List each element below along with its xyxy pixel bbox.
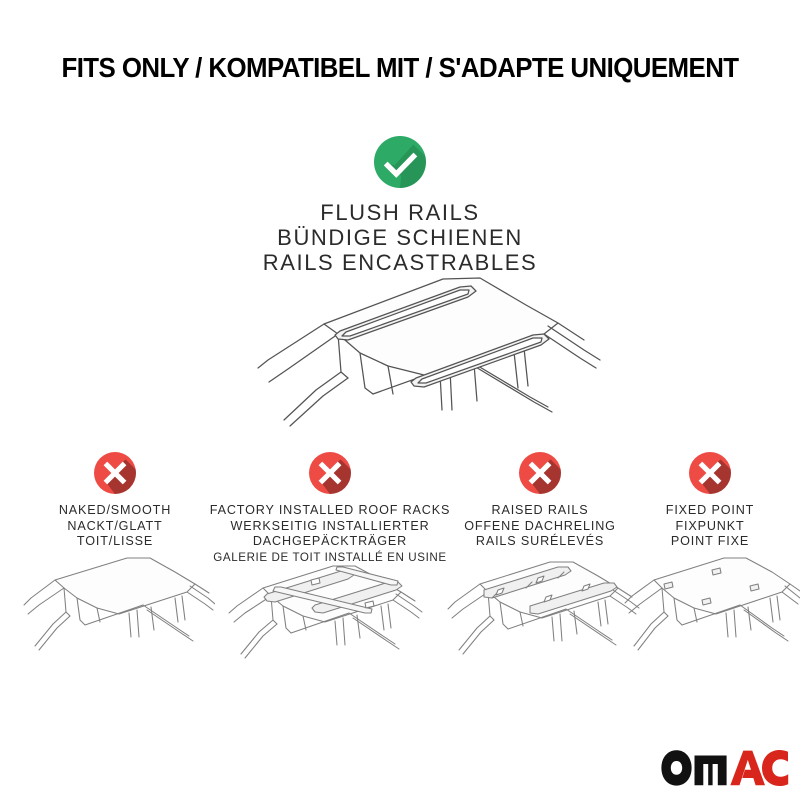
option-label-en: FIXED POINT (620, 503, 800, 519)
option-labels-fixed: FIXED POINT FIXPUNKT POINT FIXE (620, 503, 800, 550)
header: FITS ONLY / KOMPATIBEL MIT / S'ADAPTE UN… (0, 52, 800, 84)
page-title: FITS ONLY / KOMPATIBEL MIT / S'ADAPTE UN… (24, 52, 776, 84)
car-roof-naked-illustration (15, 550, 215, 670)
cross-circle-icon-wrap-fixed (689, 452, 731, 494)
hero-labels: FLUSH RAILS BÜNDIGE SCHIENEN RAILS ENCAS… (0, 200, 800, 275)
roof-line-art (205, 550, 455, 670)
option-label-en: FACTORY INSTALLED ROOF RACKS (205, 503, 455, 519)
option-label-de-2: DACHGEPÄCKTRÄGER (205, 534, 455, 550)
car-roof-fixed-point-illustration (620, 544, 800, 664)
fitment-infographic: FITS ONLY / KOMPATIBEL MIT / S'ADAPTE UN… (0, 0, 800, 800)
roof-line-art (440, 550, 640, 670)
option-label-en: NAKED/SMOOTH (15, 503, 215, 519)
cross-circle-icon (689, 452, 731, 494)
omac-logo-mark (659, 748, 791, 788)
cross-circle-icon (519, 452, 561, 494)
option-labels-raised: RAISED RAILS OFFENE DACHRELING RAILS SUR… (440, 503, 640, 550)
option-fixed-point: FIXED POINT FIXPUNKT POINT FIXE (620, 452, 800, 550)
option-label-fr: RAILS SURÉLEVÉS (440, 534, 640, 550)
incompatible-options: NAKED/SMOOTH NACKT/GLATT TOIT/LISSE (0, 452, 800, 702)
cross-circle-icon (309, 452, 351, 494)
check-circle-icon (374, 136, 426, 188)
option-factory-roof-racks: FACTORY INSTALLED ROOF RACKS WERKSEITIG … (205, 452, 455, 565)
option-label-de: OFFENE DACHRELING (440, 519, 640, 535)
car-roof-flush-rails-illustration (228, 268, 608, 438)
car-roof-raised-rails-illustration (440, 550, 640, 670)
option-raised-rails: RAISED RAILS OFFENE DACHRELING RAILS SUR… (440, 452, 640, 550)
roof-line-art (15, 550, 215, 670)
roof-line-art (228, 268, 608, 438)
cross-circle-icon-wrap-factory (309, 452, 351, 494)
option-label-de: NACKT/GLATT (15, 519, 215, 535)
option-naked-smooth: NAKED/SMOOTH NACKT/GLATT TOIT/LISSE (15, 452, 215, 550)
option-labels-naked: NAKED/SMOOTH NACKT/GLATT TOIT/LISSE (15, 503, 215, 550)
check-circle-icon-wrap (374, 136, 426, 188)
hero-label-de: BÜNDIGE SCHIENEN (0, 225, 800, 250)
hero-flush-rails: FLUSH RAILS BÜNDIGE SCHIENEN RAILS ENCAS… (0, 136, 800, 275)
roof-line-art (620, 544, 800, 664)
cross-circle-icon (94, 452, 136, 494)
option-label-de-1: WERKSEITIG INSTALLIERTER (205, 519, 455, 535)
option-label-de: FIXPUNKT (620, 519, 800, 535)
cross-circle-icon-wrap-naked (94, 452, 136, 494)
omac-logo: OMAC (659, 748, 791, 788)
hero-label-en: FLUSH RAILS (0, 200, 800, 225)
car-roof-factory-racks-illustration (205, 550, 455, 670)
option-label-en: RAISED RAILS (440, 503, 640, 519)
cross-circle-icon-wrap-raised (519, 452, 561, 494)
option-label-fr: TOIT/LISSE (15, 534, 215, 550)
